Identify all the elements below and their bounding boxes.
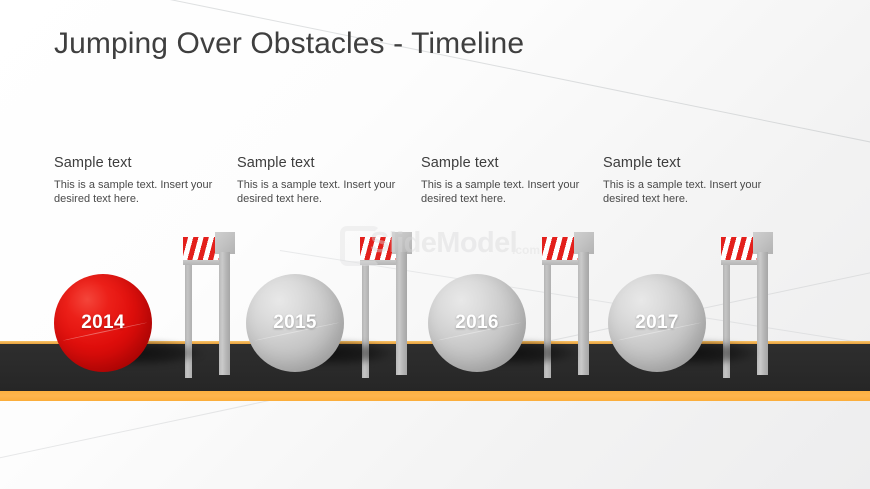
milestone-year-label: 2014 bbox=[81, 312, 124, 334]
milestone-body: This is a sample text. Insert your desir… bbox=[421, 178, 603, 206]
milestone-text-2016: Sample text This is a sample text. Inser… bbox=[421, 155, 603, 206]
slide-canvas: Jumping Over Obstacles - Timeline Sample… bbox=[0, 0, 870, 489]
hurdle-front-post-cap bbox=[215, 232, 235, 254]
milestone-heading: Sample text bbox=[421, 155, 603, 171]
milestone-body: This is a sample text. Insert your desir… bbox=[54, 178, 236, 206]
hurdle-front-post-cap bbox=[574, 232, 594, 254]
milestone-year-label: 2016 bbox=[455, 312, 498, 334]
page-title: Jumping Over Obstacles - Timeline bbox=[54, 27, 524, 61]
timeline-milestone-2017[interactable]: 2017 bbox=[608, 274, 706, 372]
hurdle-front-post bbox=[396, 252, 407, 375]
timeline-milestone-2015[interactable]: 2015 bbox=[246, 274, 344, 372]
hurdle-front-post bbox=[578, 252, 589, 375]
watermark-domain-text: .com bbox=[512, 243, 540, 257]
milestone-heading: Sample text bbox=[54, 155, 236, 171]
milestone-text-2017: Sample text This is a sample text. Inser… bbox=[603, 155, 785, 206]
timeline-milestone-2016[interactable]: 2016 bbox=[428, 274, 526, 372]
milestone-body: This is a sample text. Insert your desir… bbox=[603, 178, 785, 206]
milestone-heading: Sample text bbox=[603, 155, 785, 171]
milestone-body: This is a sample text. Insert your desir… bbox=[237, 178, 419, 206]
road-bottom-band bbox=[0, 391, 870, 401]
hurdle-front-post-cap bbox=[753, 232, 773, 254]
milestone-text-2015: Sample text This is a sample text. Inser… bbox=[237, 155, 419, 206]
hurdle-front-post bbox=[757, 252, 768, 375]
milestone-year-label: 2017 bbox=[635, 312, 678, 334]
milestone-heading: Sample text bbox=[237, 155, 419, 171]
hurdle-front-post bbox=[219, 252, 230, 375]
milestone-year-label: 2015 bbox=[273, 312, 316, 334]
hurdle-front-post-cap bbox=[392, 232, 412, 254]
timeline-milestone-2014[interactable]: 2014 bbox=[54, 274, 152, 372]
milestone-text-2014: Sample text This is a sample text. Inser… bbox=[54, 155, 236, 206]
